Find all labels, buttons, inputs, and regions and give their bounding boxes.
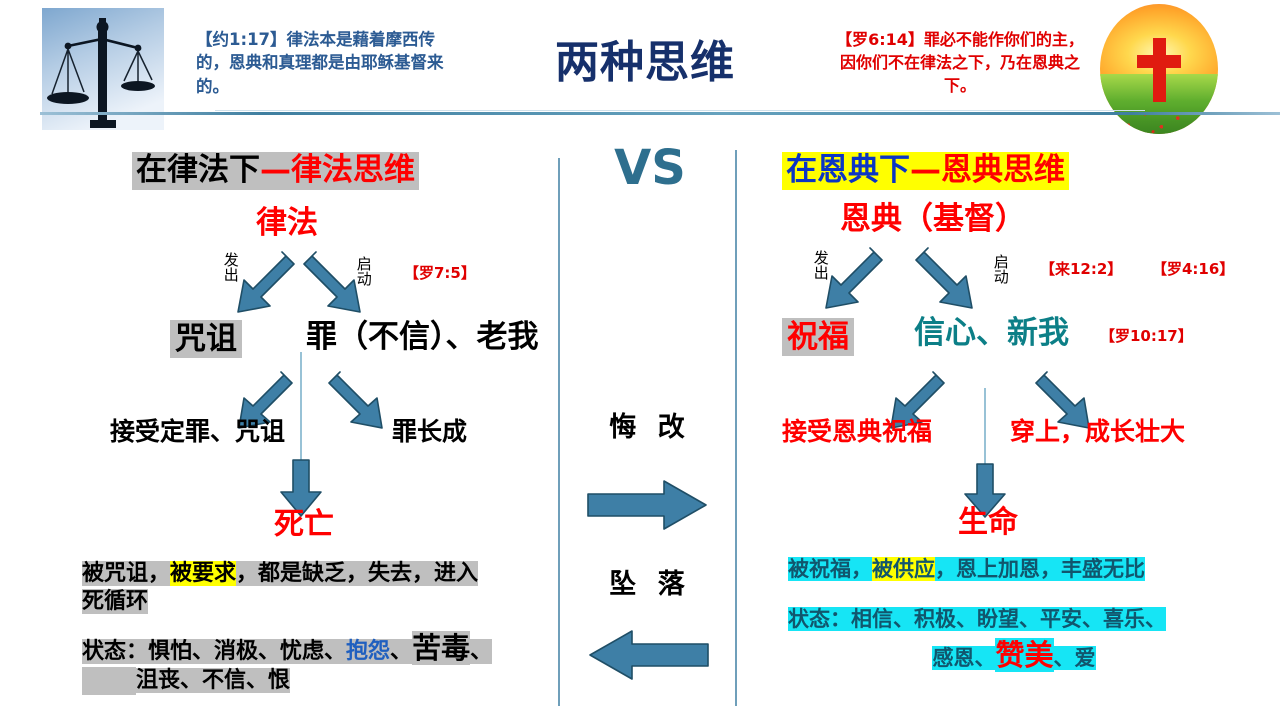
slide-canvas: 【约1:17】律法本是藉着摩西传的，恩典和真理都是由耶稣基督来的。 两种思维 【… xyxy=(0,0,1280,720)
right-outcome-life: 生命 xyxy=(958,506,1018,539)
left-sum2-seg1: 惧怕、消极、忧虑、 xyxy=(148,639,346,664)
right-heading-plain: 在恩典下 xyxy=(786,152,910,188)
left-sum2-label: 状态： xyxy=(82,639,148,664)
right-leaf-receive-blessing: 接受恩典祝福 xyxy=(782,418,932,446)
page-title: 两种思维 xyxy=(505,26,785,90)
arrow-grace-to-faith xyxy=(912,244,984,320)
arrow-right-repent xyxy=(586,478,710,536)
left-sum1-seg3: ，都是缺乏，失去，进入 xyxy=(236,561,478,586)
arrow-sin-to-grow xyxy=(325,368,391,438)
arrow-law-to-sin xyxy=(300,248,372,324)
right-sum2-line2a: 感恩、 xyxy=(932,646,995,670)
left-summary-state: 状态：惧怕、消极、忧虑、抱怨、苦毒、 沮丧、不信、恨 xyxy=(82,630,544,695)
right-ref-rom4-16: 【罗4:16】 xyxy=(1152,258,1234,279)
right-sum2-big: 赞美 xyxy=(995,638,1053,672)
right-branch-faith: 信心、新我 xyxy=(914,316,1069,350)
left-sum1-line2: 死循环 xyxy=(82,589,148,614)
left-sum2-indent xyxy=(82,667,136,695)
left-heading-plain: 在律法下 xyxy=(136,152,260,188)
left-leaf-accept-condemnation: 接受定罪、咒诅 xyxy=(110,418,285,446)
right-heading-emphasis: —恩典思维 xyxy=(910,152,1065,188)
left-sum2-seg5: 、 xyxy=(470,639,492,664)
right-ref-heb12-2: 【来12:2】 xyxy=(1040,258,1122,279)
right-sum1-seg1: 被祝福， xyxy=(788,557,872,581)
left-branch-sin: 罪（不信）、老我 xyxy=(306,320,539,354)
center-fall-label: 坠 落 xyxy=(585,562,715,601)
right-sum2-label: 状态： xyxy=(788,607,851,631)
right-ref-rom10-17: 【罗10:17】 xyxy=(1100,325,1193,346)
arrow-left-fall xyxy=(586,628,710,686)
left-sum2-blue: 抱怨 xyxy=(346,639,390,664)
arrow-grace-to-blessing xyxy=(818,244,888,320)
arrow-law-to-curse xyxy=(230,248,300,324)
left-sum1-highlight: 被要求 xyxy=(170,561,236,586)
right-branch-blessing: 祝福 xyxy=(782,318,854,356)
right-sum1-seg3: ，恩上加恩，丰盛无比 xyxy=(935,557,1145,581)
verse-right-text: 【罗6:14】罪必不能作你们的主，因你们不在律法之下，乃在恩典之下。 xyxy=(830,28,1090,98)
left-sum2-line2: 沮丧、不信、恨 xyxy=(136,668,290,693)
right-summary-state: 状态：相信、积极、盼望、平安、喜乐、 感恩、赞美、爱 xyxy=(788,606,1240,674)
divider-right xyxy=(735,150,737,706)
left-branch-curse: 咒诅 xyxy=(170,320,242,358)
right-root-node: 恩典（基督） xyxy=(840,202,1026,236)
verse-left-text: 【约1:17】律法本是藉着摩西传的，恩典和真理都是由耶稣基督来的。 xyxy=(196,28,446,98)
right-panel-heading: 在恩典下—恩典思维 xyxy=(782,152,1069,190)
right-sum2-seg1: 相信、积极、盼望、平安、喜乐、 xyxy=(851,607,1166,631)
left-sum1-seg1: 被咒诅， xyxy=(82,561,170,586)
left-summary-curse: 被咒诅，被要求，都是缺乏，失去，进入 死循环 xyxy=(82,560,544,616)
divider-left xyxy=(558,158,560,706)
right-summary-blessing: 被祝福，被供应，恩上加恩，丰盛无比 xyxy=(788,556,1238,583)
center-repent-label: 悔 改 xyxy=(585,405,715,444)
left-sum2-big: 苦毒 xyxy=(412,631,470,665)
left-panel-heading: 在律法下—律法思维 xyxy=(132,152,419,190)
left-sum2-seg3: 、 xyxy=(390,639,412,664)
right-sum2-line2b: 、爱 xyxy=(1054,646,1096,670)
left-root-node: 律法 xyxy=(256,206,318,240)
right-sum1-highlight: 被供应 xyxy=(872,557,935,581)
header-rule xyxy=(40,112,1280,115)
vs-label: VS xyxy=(600,140,700,196)
left-heading-emphasis: —律法思维 xyxy=(260,152,415,188)
right-leaf-grow-strong: 穿上，成长壮大 xyxy=(1010,418,1185,446)
left-outcome-death: 死亡 xyxy=(274,508,334,541)
left-leaf-sin-grows: 罪长成 xyxy=(392,418,467,446)
header-rule-thin xyxy=(215,110,1145,111)
left-ref-rom7-5: 【罗7:5】 xyxy=(404,262,476,283)
right-edge-label-trigger: 启动 xyxy=(992,254,1008,284)
